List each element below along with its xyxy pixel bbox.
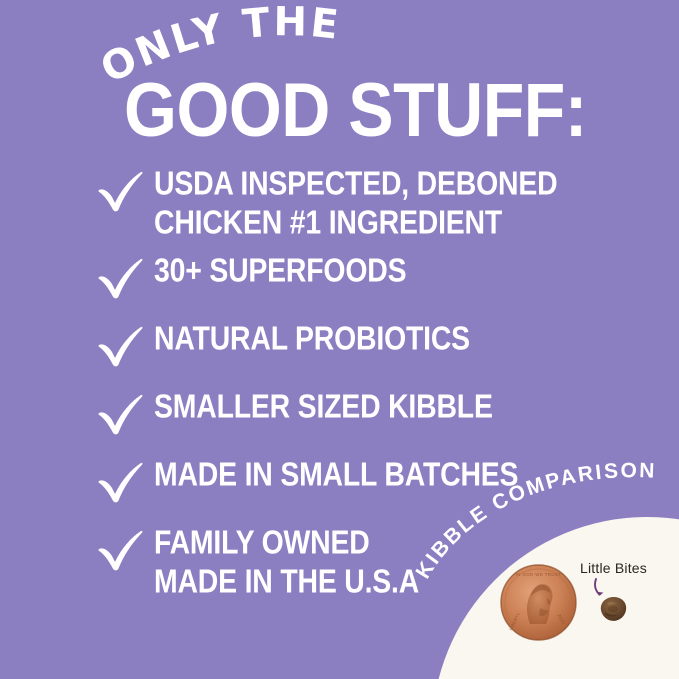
checkmark-icon (96, 527, 146, 573)
coin-motto: IN GOD WE TRUST (516, 572, 562, 577)
checkmark-icon (96, 391, 146, 437)
checkmark-icon (96, 459, 146, 505)
checkmark-icon (96, 255, 146, 301)
headline-line-1-text: ONLY THE (94, 0, 343, 93)
penny-coin: IN GOD WE TRUST LIBERTY 2022 (500, 564, 577, 641)
list-item-label: USDA INSPECTED, DEBONED CHICKEN #1 INGRE… (154, 166, 557, 243)
headline-line-1: ONLY THE (106, 28, 336, 90)
list-item-label: SMALLER SIZED KIBBLE (154, 389, 493, 427)
curved-arrow-icon (592, 577, 614, 601)
svg-text:ONLY THE: ONLY THE (94, 0, 343, 93)
list-item-label: 30+ SUPERFOODS (154, 253, 406, 291)
list-item-label: FAMILY OWNED MADE IN THE U.S.A (154, 525, 419, 602)
list-item: NATURAL PROBIOTICS (96, 321, 616, 369)
headline-line-2: GOOD STUFF: (0, 72, 679, 148)
list-item: 30+ SUPERFOODS (96, 253, 616, 301)
checkmark-icon (96, 323, 146, 369)
list-item: SMALLER SIZED KIBBLE (96, 389, 616, 437)
checkmark-icon (96, 168, 146, 214)
page-title: ONLY THE GOOD STUFF: (0, 0, 679, 160)
kibble-label: Little Bites (580, 560, 647, 576)
list-item: USDA INSPECTED, DEBONED CHICKEN #1 INGRE… (96, 166, 616, 233)
list-item-label: NATURAL PROBIOTICS (154, 321, 470, 359)
product-benefits-poster: ONLY THE GOOD STUFF: USDA INSPECTED, DEB… (0, 0, 679, 679)
